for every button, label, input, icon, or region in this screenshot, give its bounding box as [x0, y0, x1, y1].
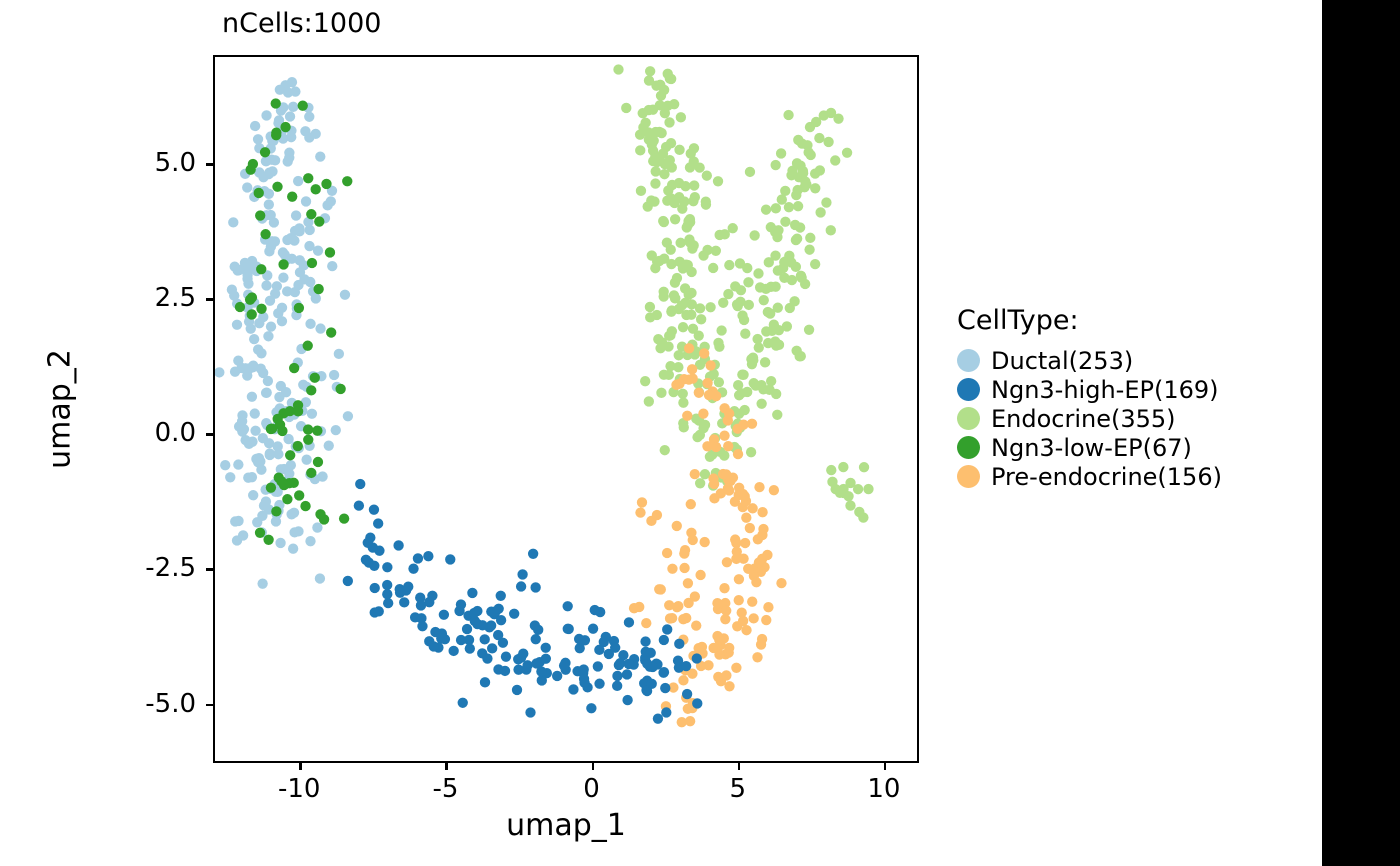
- legend-swatch-icon: [957, 378, 980, 401]
- legend-item-ngn3-high-ep[interactable]: Ngn3-high-EP(169): [957, 375, 1307, 404]
- x-tick-label: 0: [583, 774, 600, 804]
- y-tick-mark: [206, 298, 213, 301]
- legend-swatch-icon: [957, 436, 980, 459]
- legend-item-label: Ngn3-low-EP(67): [991, 436, 1192, 460]
- x-tick-mark: [299, 763, 302, 770]
- scatter-plot-axes[interactable]: [213, 55, 919, 763]
- legend-item-ductal[interactable]: Ductal(253): [957, 346, 1307, 375]
- legend-item-label: Pre-endocrine(156): [991, 465, 1222, 489]
- legend-title: CellType:: [957, 305, 1307, 336]
- y-tick-label: 2.5: [100, 283, 196, 313]
- y-tick-label: -5.0: [100, 689, 196, 719]
- y-tick-mark: [206, 568, 213, 571]
- x-tick-label: 10: [867, 774, 900, 804]
- page-title: nCells:1000: [222, 8, 381, 39]
- y-tick-label: -2.5: [100, 553, 196, 583]
- legend: CellType: Ductal(253)Ngn3-high-EP(169)En…: [957, 305, 1307, 491]
- legend-swatch-icon: [957, 465, 980, 488]
- legend-item-label: Ngn3-high-EP(169): [991, 378, 1218, 402]
- legend-item-label: Endocrine(355): [991, 407, 1176, 431]
- x-tick-mark: [445, 763, 448, 770]
- legend-item-endocrine[interactable]: Endocrine(355): [957, 404, 1307, 433]
- legend-item-ngn3-low-ep[interactable]: Ngn3-low-EP(67): [957, 433, 1307, 462]
- y-tick-mark: [206, 163, 213, 166]
- legend-swatch-icon: [957, 407, 980, 430]
- legend-swatch-icon: [957, 349, 980, 372]
- x-tick-mark: [884, 763, 887, 770]
- y-tick-label: 5.0: [100, 148, 196, 178]
- y-axis-label: umap_2: [43, 349, 78, 469]
- legend-items: Ductal(253)Ngn3-high-EP(169)Endocrine(35…: [957, 346, 1307, 491]
- scatter-series-ngn3-high-ep: [343, 479, 703, 724]
- y-tick-mark: [206, 704, 213, 707]
- x-tick-mark: [738, 763, 741, 770]
- x-tick-mark: [592, 763, 595, 770]
- scatter-series-endocrine: [613, 64, 873, 522]
- x-tick-label: -5: [432, 774, 458, 804]
- figure-canvas: nCells:1000 5.02.50.0-2.5-5.0 -10-50510 …: [0, 0, 1322, 866]
- x-tick-label: -10: [278, 774, 320, 804]
- x-tick-label: 5: [729, 774, 746, 804]
- scatter-points-layer: [215, 57, 917, 761]
- x-axis-label: umap_1: [506, 808, 626, 843]
- legend-item-pre-endocrine[interactable]: Pre-endocrine(156): [957, 462, 1307, 491]
- y-tick-mark: [206, 433, 213, 436]
- legend-item-label: Ductal(253): [991, 349, 1133, 373]
- y-tick-label: 0.0: [100, 418, 196, 448]
